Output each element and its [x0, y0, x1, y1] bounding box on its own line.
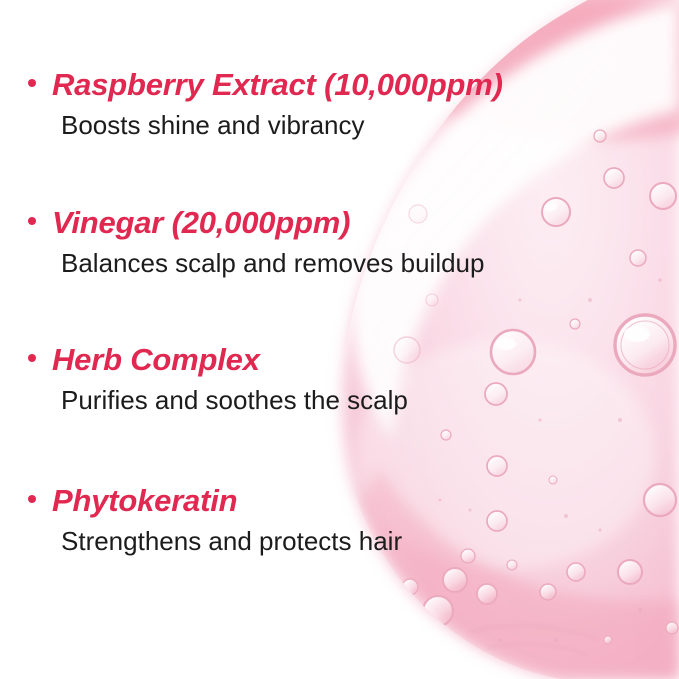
benefit-heading: Phytokeratin	[52, 484, 237, 519]
benefit-item-raspberry-extract: Raspberry Extract (10,000ppm) Boosts shi…	[28, 68, 503, 141]
benefit-heading-row: Vinegar (20,000ppm)	[28, 206, 484, 241]
benefit-heading-row: Herb Complex	[28, 343, 408, 378]
bullet-dot-icon	[28, 354, 36, 362]
benefit-description: Boosts shine and vibrancy	[61, 110, 503, 141]
benefit-description: Strengthens and protects hair	[61, 526, 402, 557]
benefit-item-phytokeratin: Phytokeratin Strengthens and protects ha…	[28, 484, 402, 557]
benefit-item-herb-complex: Herb Complex Purifies and soothes the sc…	[28, 343, 408, 416]
benefit-description: Purifies and soothes the scalp	[61, 385, 408, 416]
benefit-heading-row: Raspberry Extract (10,000ppm)	[28, 68, 503, 103]
benefit-heading: Vinegar (20,000ppm)	[52, 206, 350, 241]
bullet-dot-icon	[28, 79, 36, 87]
benefit-heading-row: Phytokeratin	[28, 484, 402, 519]
ingredient-benefits-graphic: Raspberry Extract (10,000ppm) Boosts shi…	[0, 0, 679, 679]
benefit-heading: Raspberry Extract (10,000ppm)	[52, 68, 503, 103]
benefit-description: Balances scalp and removes buildup	[61, 248, 484, 279]
benefit-item-vinegar: Vinegar (20,000ppm) Balances scalp and r…	[28, 206, 484, 279]
bullet-dot-icon	[28, 495, 36, 503]
benefit-heading: Herb Complex	[52, 343, 260, 378]
benefits-list: Raspberry Extract (10,000ppm) Boosts shi…	[0, 0, 679, 679]
bullet-dot-icon	[28, 217, 36, 225]
